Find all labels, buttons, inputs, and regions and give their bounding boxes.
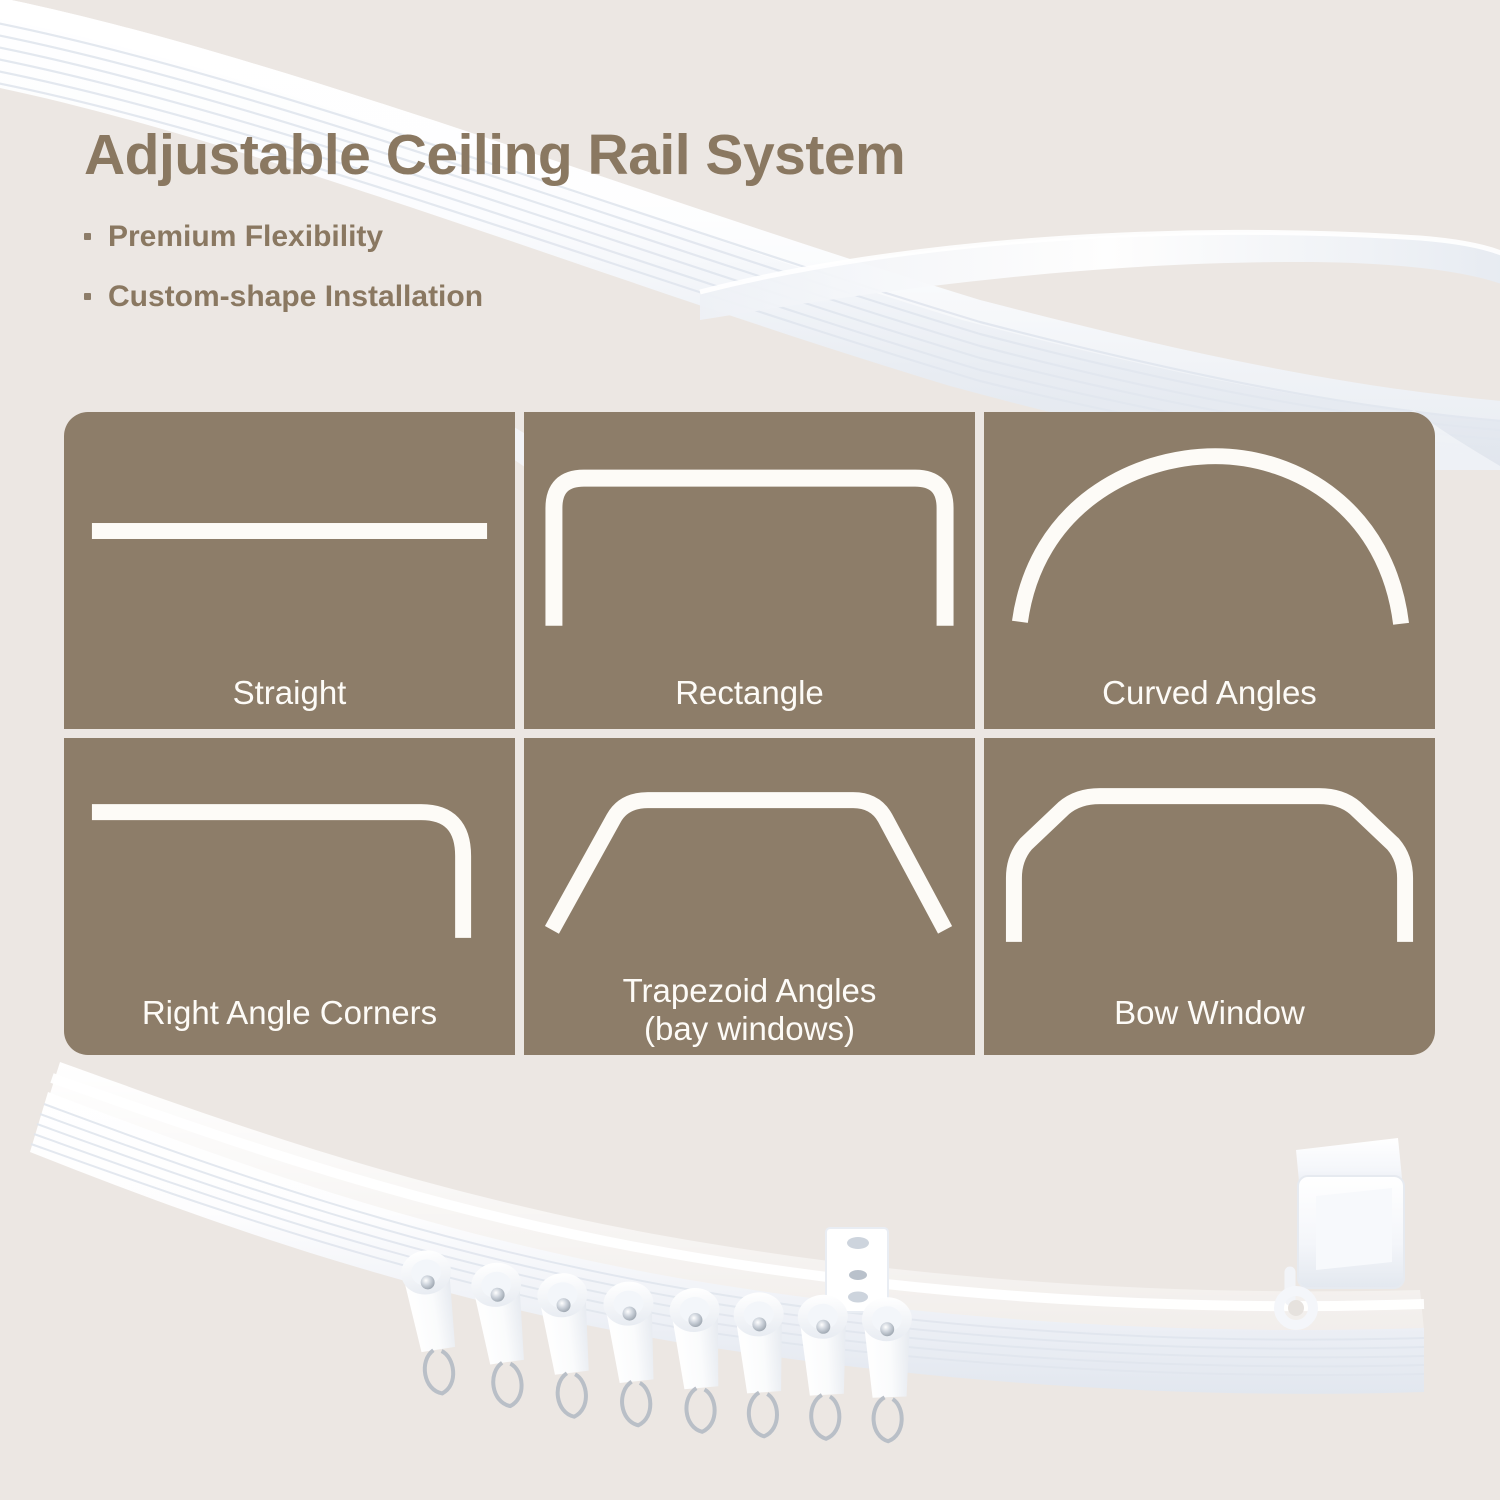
l-bend-track-icon [64,760,515,960]
shape-label: Right Angle Corners [132,994,447,1032]
shape-label-line-2: (bay windows) [623,1010,877,1048]
feature-label: Custom-shape Installation [108,280,483,314]
roller-carrier-group [398,1247,916,1442]
arc-track-icon [984,426,1435,640]
dot-bullet-icon [84,293,91,300]
feature-item-0: Premium Flexibility [84,220,905,254]
end-cap-with-hook [1279,1138,1404,1325]
shape-cell-straight: Straight [64,412,515,729]
infographic-canvas: Adjustable Ceiling Rail System Premium F… [0,0,1500,1500]
straight-line-icon [64,426,515,640]
feature-label: Premium Flexibility [108,220,383,254]
shape-label-line-1: Trapezoid Angles [623,972,877,1010]
shape-cell-bow-window: Bow Window [984,738,1435,1055]
headline-block: Adjustable Ceiling Rail System Premium F… [84,126,905,314]
shape-label: Rectangle [665,674,834,712]
ceiling-mount-bracket [826,1228,888,1312]
shape-options-grid: Straight Rectangle Curved Angles [64,412,1435,1055]
shape-label: Straight [223,674,357,712]
feature-item-1: Custom-shape Installation [84,280,905,314]
shape-cell-right-angle-corners: Right Angle Corners [64,738,515,1055]
page-title: Adjustable Ceiling Rail System [84,126,905,186]
bow-track-icon [984,760,1435,960]
shape-label: Bow Window [1104,994,1315,1032]
shape-cell-rectangle: Rectangle [524,412,975,729]
shape-label: Trapezoid Angles (bay windows) [613,972,887,1049]
shape-label: Curved Angles [1092,674,1327,712]
shape-cell-trapezoid-angles: Trapezoid Angles (bay windows) [524,738,975,1055]
trapezoid-track-icon [524,760,975,960]
shape-cell-curved-angles: Curved Angles [984,412,1435,729]
rectangle-track-icon [524,426,975,640]
dot-bullet-icon [84,233,91,240]
